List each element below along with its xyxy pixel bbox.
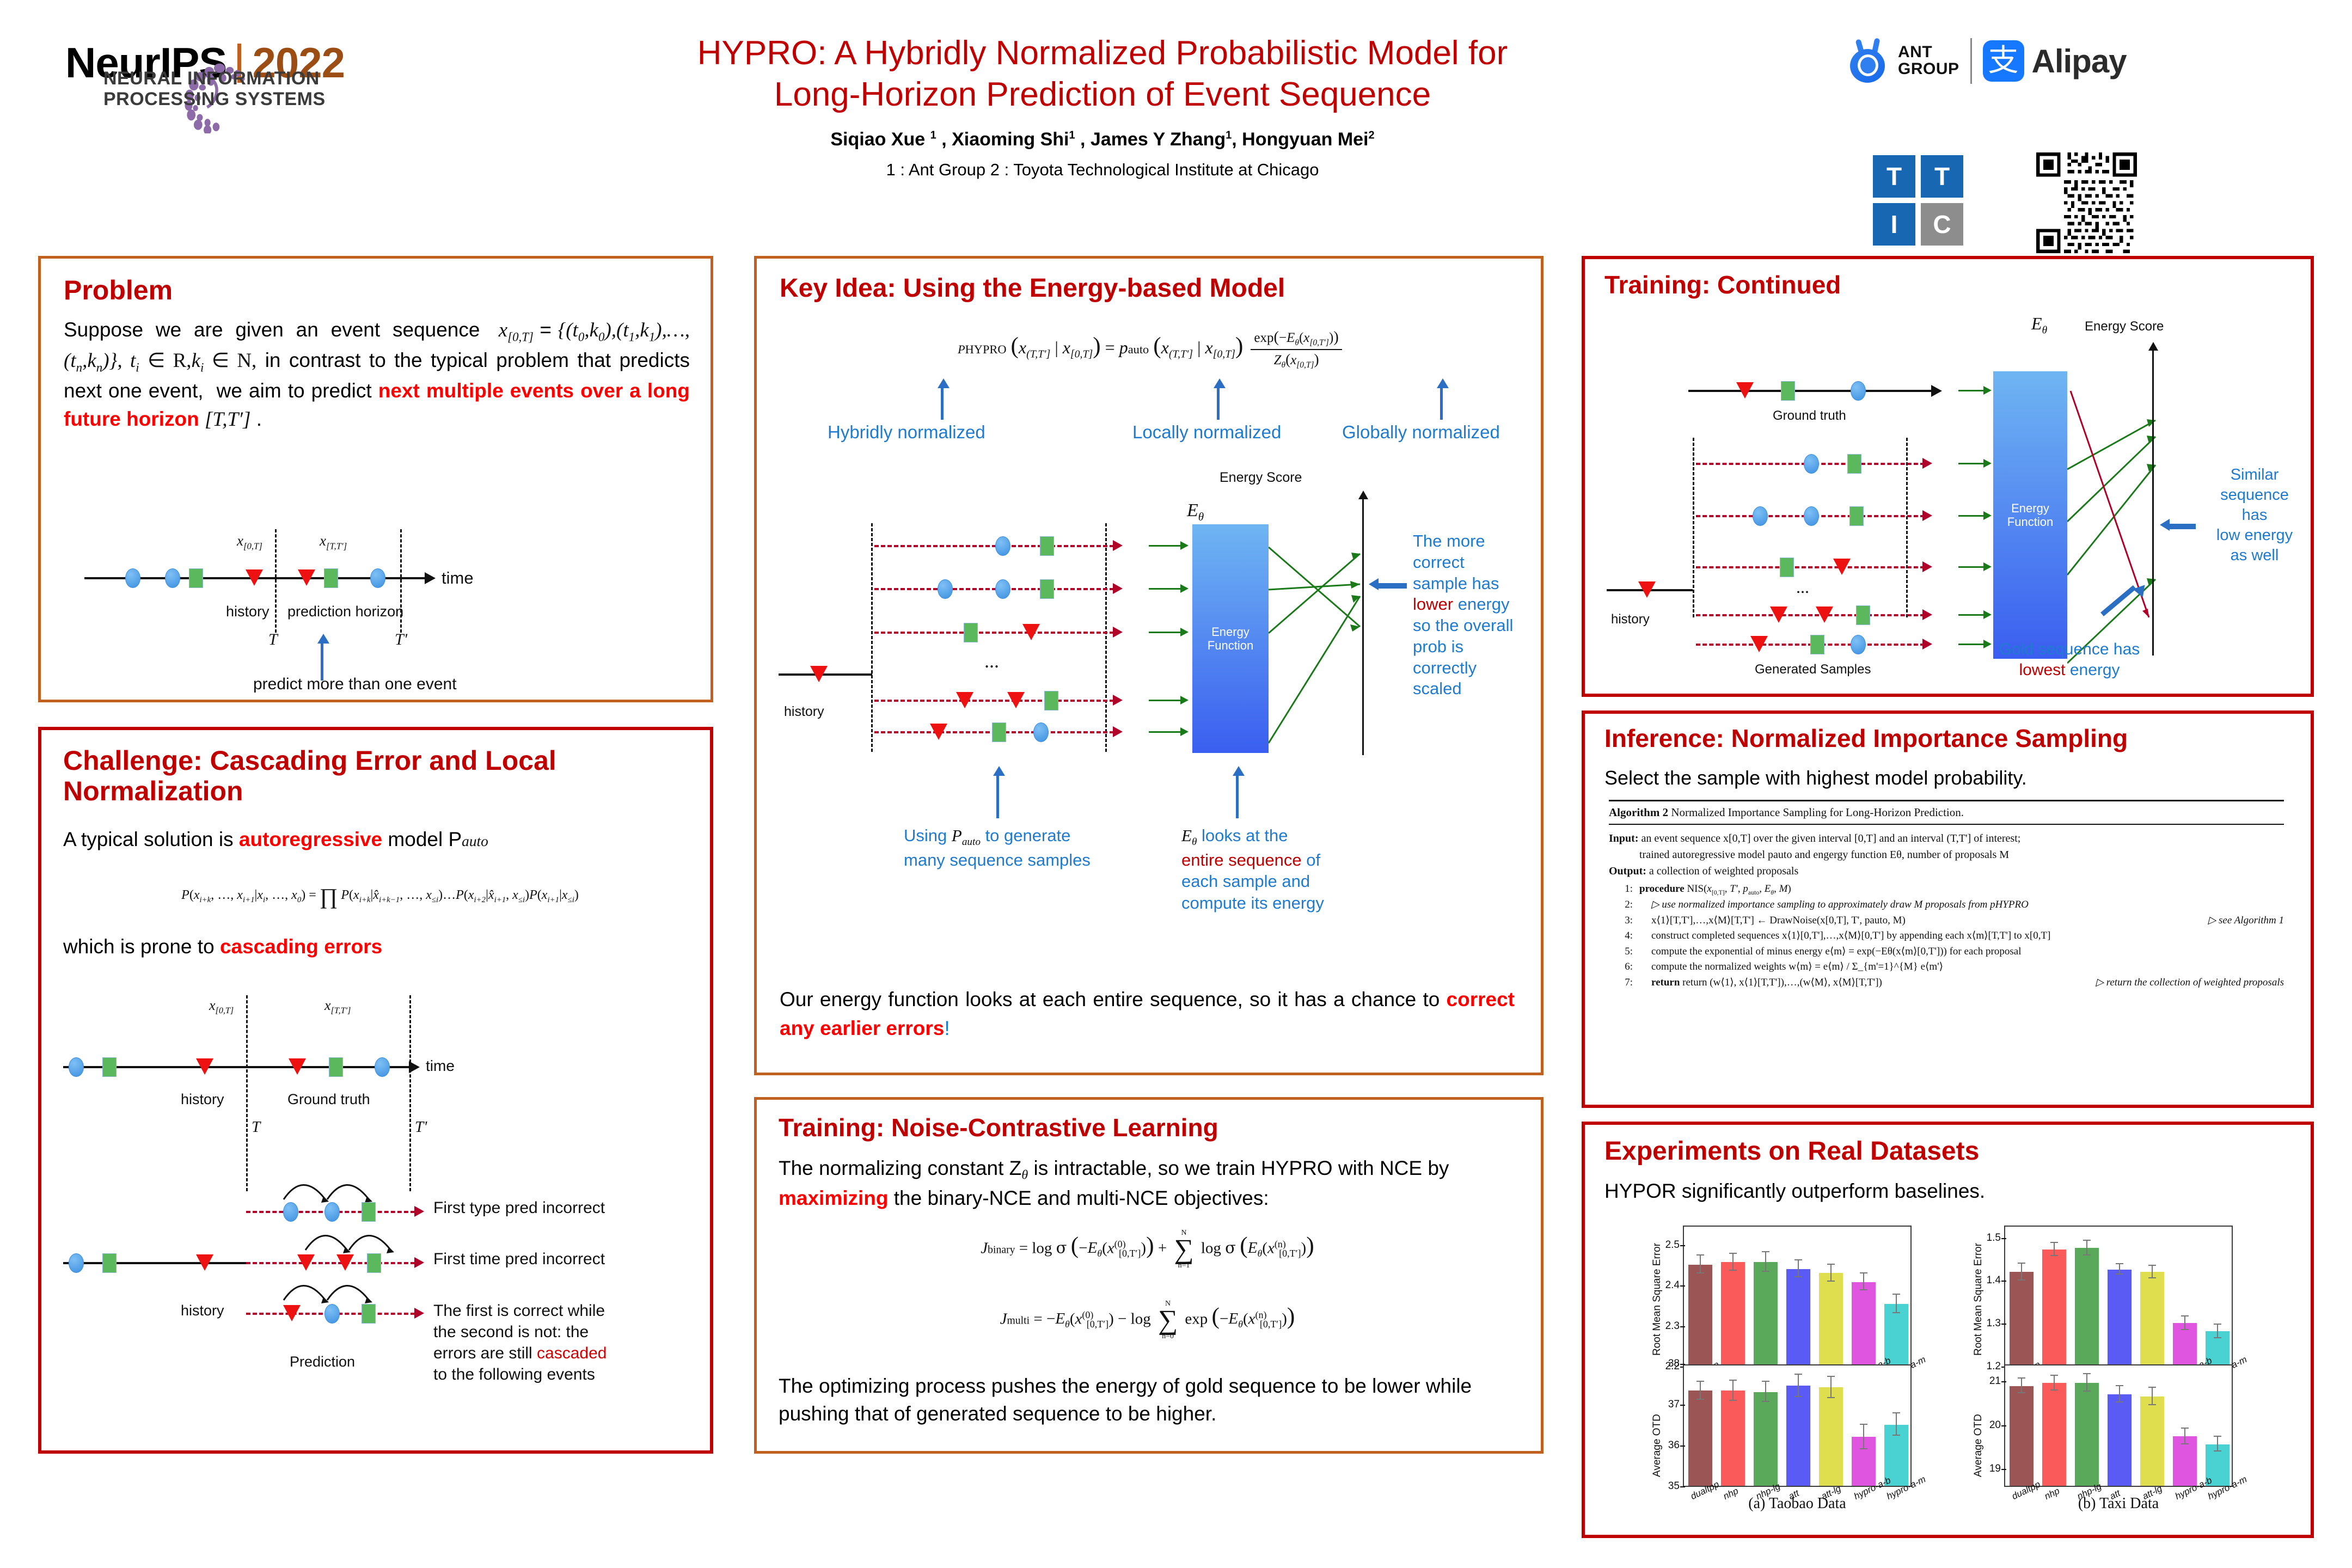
problem-callout: predict more than one event — [253, 675, 457, 694]
challenge-lead-highlight: autoregressive — [239, 828, 382, 850]
algorithm-input: Input: an event sequence x[0,T] over the… — [1609, 830, 2284, 847]
challenge-heading: Challenge: Cascading Error and Local Nor… — [63, 745, 689, 806]
trcont-heading: Training: Continued — [1604, 271, 1841, 299]
algorithm-step-text: ▷ use normalized importance sampling to … — [1639, 897, 2029, 913]
algorithm-input-label: Input: — [1609, 832, 1638, 844]
alipay-glyph: 支 — [1983, 40, 2024, 82]
error-cap — [1696, 1254, 1704, 1255]
bar — [1819, 1387, 1843, 1486]
chart-caption-taobao: (a) Taobao Data — [1688, 1495, 1906, 1512]
algorithm-input-line1: an event sequence x[0,T] over the given … — [1641, 832, 2020, 844]
y-tick — [2001, 1469, 2006, 1470]
challenge-prone: which is prone to cascading errors — [63, 933, 382, 961]
challenge-callout-1: First type pred incorrect — [433, 1199, 605, 1217]
bar — [2042, 1383, 2066, 1486]
bar — [2075, 1383, 2099, 1486]
inference-heading: Inference: Normalized Importance Samplin… — [1604, 725, 2128, 753]
inference-algorithm-box: Algorithm 2 Normalized Importance Sampli… — [1609, 800, 2284, 990]
challenge-callout-3-l3b: cascaded — [537, 1344, 607, 1362]
y-tick — [1680, 1285, 1685, 1287]
trcont-rc-4: as well — [2200, 546, 2309, 566]
ttic-tile-t2: T — [1921, 155, 1963, 198]
y-axis-label: Average OTD — [1973, 1414, 1984, 1477]
challenge-prone-highlight: cascading errors — [220, 935, 382, 958]
keyidea-heading: Key Idea: Using the Energy-based Model — [780, 274, 1285, 303]
error-cap — [1794, 1259, 1802, 1260]
challenge-formula: P(xi+k, …, xi+1|xi, …, x0) = ∏ P(xi+k|x̂… — [70, 884, 690, 909]
error-cap — [1794, 1276, 1802, 1277]
panel-challenge: Challenge: Cascading Error and Local Nor… — [38, 727, 713, 1454]
trcont-diagram: Eθ Energy Score Ground truth — [1596, 307, 2304, 688]
error-cap — [1860, 1272, 1867, 1273]
keyidea-ellipsis: ... — [984, 650, 999, 672]
trcont-score-mapping-arrows — [2067, 367, 2171, 672]
challenge-callout-3-l3: errors are still cascaded — [433, 1343, 689, 1364]
challenge-label-x0T: x[0,T] — [209, 997, 234, 1016]
y-tick — [1680, 1364, 1685, 1365]
error-bar — [2054, 1243, 2055, 1256]
error-bar — [2021, 1264, 2022, 1281]
bar — [2010, 1272, 2033, 1366]
challenge-T-label: T — [252, 1118, 260, 1136]
error-cap — [1729, 1400, 1737, 1401]
error-cap — [2181, 1443, 2189, 1444]
cascade-arc-row2 — [303, 1222, 401, 1254]
error-cap — [2050, 1242, 2058, 1243]
algorithm-step-num: 7: — [1609, 975, 1639, 991]
error-cap — [2083, 1254, 2091, 1255]
challenge-heading-line2: Normalization — [63, 776, 689, 806]
problem-timeline-diagram: time x[0,T] x[T,T′] history prediction h… — [73, 512, 672, 686]
keyidea-conclusion-after: ! — [944, 1017, 950, 1039]
bar — [1786, 1269, 1810, 1366]
keyidea-formula: pHYPRO (x(T,T′] | x[0,T]) = pauto (x(T,T… — [789, 328, 1514, 370]
bar — [1786, 1386, 1810, 1486]
keyidea-conclusion-before: Our energy function looks at each entire… — [780, 988, 1447, 1010]
algorithm-step: 4: construct completed sequences x⟨1⟩[0,… — [1609, 928, 2284, 944]
training-formula-multi: Jmulti = −Eθ(x(0)[0,T′]) − log N∑n=0 exp… — [779, 1300, 1516, 1340]
y-axis-label: Root Mean Square Error — [1973, 1243, 1984, 1356]
error-bar — [1896, 1413, 1897, 1436]
algorithm-step-num: 6: — [1609, 959, 1639, 975]
bar — [1721, 1262, 1745, 1366]
panel-key-idea: Key Idea: Using the Energy-based Model p… — [754, 256, 1543, 1075]
algorithm-io: Input: an event sequence x[0,T] over the… — [1609, 830, 2284, 879]
algorithm-step: 7: return return (w⟨1⟩, x⟨1⟩[T,T']),…,(w… — [1609, 975, 2284, 991]
y-tick — [1680, 1326, 1685, 1327]
error-cap — [2181, 1428, 2189, 1429]
trcont-energy-score-label: Energy Score — [2085, 319, 2164, 334]
error-cap — [2181, 1315, 2189, 1316]
error-bar — [2184, 1316, 2185, 1330]
error-bar — [1700, 1255, 1701, 1273]
cascade-arc-row3 — [281, 1272, 379, 1304]
error-cap — [1827, 1397, 1835, 1398]
keyidea-history-label: history — [784, 704, 824, 720]
error-bar — [2217, 1437, 2218, 1451]
y-tick — [2001, 1324, 2006, 1325]
trcont-rc-1: sequence — [2200, 485, 2309, 505]
keyidea-rc-6: correctly — [1413, 658, 1538, 679]
bar — [2140, 1272, 2164, 1366]
keyidea-right-callout: The more correct sample has lower energy… — [1413, 531, 1538, 700]
trcont-bc-l1: Gold sequence has — [1971, 639, 2167, 660]
error-bar — [2086, 1374, 2087, 1392]
error-cap — [1729, 1253, 1737, 1254]
error-cap — [2116, 1263, 2123, 1264]
bar — [1754, 1392, 1778, 1486]
keyidea-callout-hybrid: Hybridly normalized — [828, 422, 985, 443]
algorithm-output-text: a collection of weighted proposals — [1649, 865, 1798, 877]
keyidea-brc-l4: compute its energy — [1181, 892, 1324, 914]
error-cap — [2018, 1377, 2025, 1379]
error-cap — [1762, 1271, 1769, 1272]
y-tick — [1680, 1445, 1685, 1447]
error-cap — [2050, 1255, 2058, 1256]
algorithm-step-text: compute the exponential of minus energy … — [1639, 944, 2022, 960]
poster-header: NeurIPS 2022 NEURAL INFORMA — [0, 0, 2352, 256]
error-bar — [1798, 1375, 1799, 1397]
algorithm-step-num: 2: — [1609, 897, 1639, 913]
challenge-callout-3-l1: The first is correct while — [433, 1300, 689, 1321]
bar — [2075, 1248, 2099, 1366]
y-tick — [2001, 1281, 2006, 1282]
algorithm-step-text: compute the normalized weights w⟨m⟩ = e⟨… — [1639, 959, 1943, 975]
cascade-arc-row1 — [281, 1171, 379, 1204]
keyidea-blc-l2: many sequence samples — [904, 849, 1091, 871]
keyidea-energy-score-label: Energy Score — [1220, 470, 1302, 486]
trcont-bc-l2-red: lowest — [2019, 661, 2065, 679]
error-cap — [1892, 1412, 1900, 1413]
error-bar — [2119, 1386, 2120, 1403]
algorithm-title: Algorithm 2 Normalized Importance Sampli… — [1609, 806, 2284, 824]
challenge-lead-after: model P — [382, 828, 462, 850]
challenge-callout-3-l2: the second is not: the — [433, 1321, 689, 1343]
ttic-tile-i: I — [1873, 203, 1915, 246]
challenge-callout-3: The first is correct while the second is… — [433, 1300, 689, 1385]
error-cap — [2214, 1337, 2221, 1338]
problem-paragraph: Suppose we are given an event sequence x… — [64, 316, 690, 434]
problem-label-xTT: x[T,T′] — [320, 532, 347, 552]
y-tick — [1680, 1486, 1685, 1487]
trcont-efn-line2: Function — [2007, 515, 2053, 529]
algorithm-step: 3: x⟨1⟩[T,T'],…,x⟨M⟩[T,T'] ← DrawNoise(x… — [1609, 913, 2284, 929]
error-cap — [2148, 1387, 2156, 1388]
challenge-groundtruth-label: Ground truth — [287, 1091, 370, 1108]
error-cap — [2214, 1436, 2221, 1437]
error-cap — [2083, 1391, 2091, 1392]
error-cap — [1827, 1376, 1835, 1377]
error-cap — [2083, 1240, 2091, 1241]
error-cap — [1827, 1281, 1835, 1282]
challenge-cascade-diagram: time x[0,T] x[T,T′] history Ground truth… — [52, 983, 706, 1435]
qr-code-icon — [2036, 152, 2137, 253]
challenge-heading-line1: Challenge: Cascading Error and Local — [63, 745, 689, 776]
y-tick — [2001, 1425, 2006, 1426]
keyidea-rc-5: prob is — [1413, 636, 1538, 658]
training-intro-highlight: maximizing — [779, 1187, 889, 1209]
alipay-logo: 支 Alipay — [1983, 40, 2127, 82]
training-formula-binary: Jbinary = log σ (−Eθ(x(0)[0,T′])) + N∑n=… — [779, 1229, 1516, 1270]
error-cap — [2148, 1265, 2156, 1266]
challenge-callout-3-l3a: errors are still — [433, 1344, 537, 1362]
error-bar — [1765, 1252, 1766, 1272]
keyidea-blc-l1: Using Pauto to generate — [904, 825, 1091, 849]
trcont-Etheta-label: Eθ — [2031, 314, 2047, 336]
algorithm-step-text: procedure NIS(x[0,T], T′, pauto, Eθ, M) — [1639, 881, 1791, 897]
error-cap — [2116, 1385, 2123, 1386]
error-bar — [2152, 1266, 2153, 1278]
keyidea-Etheta-label: Eθ — [1187, 500, 1204, 524]
training-heading: Training: Noise-Contrastive Learning — [779, 1114, 1218, 1142]
bar — [2140, 1396, 2164, 1486]
error-bar — [1896, 1295, 1897, 1313]
algorithm-step: 2: ▷ use normalized importance sampling … — [1609, 897, 2284, 913]
plot-area — [1683, 1226, 1912, 1367]
algorithm-step: 1: procedure NIS(x[0,T], T′, pauto, Eθ, … — [1609, 881, 2284, 897]
sponsor-logos: ANT GROUP 支 Alipay — [1846, 38, 2127, 84]
challenge-history-label: history — [181, 1091, 224, 1108]
error-cap — [2050, 1389, 2058, 1391]
keyidea-energy-function-box: Energy Function — [1192, 524, 1269, 753]
trcont-history-label: history — [1611, 612, 1650, 627]
trcont-ellipsis: ... — [1796, 577, 1809, 597]
challenge-label-xTT: x[T,T′] — [324, 997, 351, 1016]
error-bar — [2021, 1379, 2022, 1393]
panel-problem: Problem Suppose we are given an event se… — [38, 256, 713, 702]
error-cap — [2018, 1263, 2025, 1264]
ant-icon — [1846, 39, 1889, 83]
error-cap — [1696, 1272, 1704, 1273]
algorithm-output: Output: a collection of weighted proposa… — [1609, 863, 2284, 879]
error-cap — [2083, 1373, 2091, 1374]
algorithm-step: 5: compute the exponential of minus ener… — [1609, 944, 2284, 960]
error-cap — [1729, 1270, 1737, 1271]
ttic-logo: T T I C — [1873, 155, 1963, 246]
keyidea-brc-l2-rest: of — [1302, 850, 1320, 869]
logo-separator — [1970, 38, 1972, 84]
error-cap — [1892, 1294, 1900, 1295]
error-cap — [2018, 1392, 2025, 1393]
ant-group-logo: ANT GROUP — [1846, 39, 1959, 83]
problem-heading: Problem — [64, 275, 173, 305]
algorithm-step-num: 4: — [1609, 928, 1639, 944]
keyidea-rc-3-red: lower — [1413, 595, 1453, 614]
error-cap — [1794, 1396, 1802, 1397]
problem-label-x0T: x[0,T] — [237, 532, 262, 552]
error-cap — [1860, 1424, 1867, 1425]
y-tick-label: 37 — [1658, 1399, 1680, 1411]
ttic-tile-t1: T — [1873, 155, 1915, 198]
training-intro-p2: is intractable, so we train HYPRO with N… — [1028, 1157, 1449, 1179]
trcont-right-callout: Similar sequence has low energy as well — [2200, 465, 2309, 566]
error-bar — [2054, 1376, 2055, 1391]
problem-T-label: T — [268, 630, 278, 649]
keyidea-rc-1: correct — [1413, 552, 1538, 573]
nips-logo-line1: NEURAL INFORMATION — [103, 68, 326, 89]
keyidea-efn-line2: Function — [1208, 639, 1253, 652]
y-tick-label: 1.2 — [1979, 1361, 2001, 1373]
y-tick — [1680, 1405, 1685, 1406]
error-cap — [1696, 1399, 1704, 1400]
algorithm-step-text: return return (w⟨1⟩, x⟨1⟩[T,T']),…,(w⟨M⟩… — [1639, 975, 2096, 991]
training-intro: The normalizing constant Zθ is intractab… — [779, 1154, 1516, 1212]
error-cap — [2181, 1329, 2189, 1330]
keyidea-rc-4: so the overall — [1413, 615, 1538, 636]
algorithm-output-label: Output: — [1609, 865, 1646, 877]
error-cap — [2148, 1277, 2156, 1278]
error-cap — [2018, 1279, 2025, 1281]
algorithm-step: 6: compute the normalized weights w⟨m⟩ =… — [1609, 959, 2284, 975]
trcont-rc-2: has — [2200, 505, 2309, 525]
keyidea-bottom-left-callout: Using Pauto to generate many sequence sa… — [904, 825, 1091, 871]
panel-inference: Inference: Normalized Importance Samplin… — [1582, 710, 2314, 1108]
training-intro-p3: the binary-NCE and multi-NCE objectives: — [889, 1187, 1269, 1209]
nips-logo-text: NEURAL INFORMATION PROCESSING SYSTEMS — [103, 68, 326, 109]
error-cap — [1762, 1251, 1769, 1252]
problem-horizon-label: prediction horizon — [287, 603, 403, 620]
keyidea-callout-global: Globally normalized — [1342, 422, 1500, 443]
challenge-history-label-2: history — [181, 1302, 224, 1319]
keyidea-efn-line1: Energy — [1208, 625, 1253, 639]
error-cap — [2214, 1324, 2221, 1325]
ant-line-1: ANT — [1898, 44, 1959, 61]
algorithm-title-rest: Normalized Importance Sampling for Long-… — [1668, 806, 1964, 819]
keyidea-rc-0: The more — [1413, 531, 1538, 552]
bar — [1688, 1391, 1712, 1486]
problem-Tprime-label: T' — [395, 630, 407, 649]
y-tick — [2001, 1381, 2006, 1382]
algorithm-steps: 1: procedure NIS(x[0,T], T′, pauto, Eθ, … — [1609, 881, 2284, 990]
error-cap — [2148, 1404, 2156, 1405]
keyidea-rc-3: lower energy — [1413, 594, 1538, 615]
error-bar — [1765, 1382, 1766, 1402]
keyidea-conclusion: Our energy function looks at each entire… — [780, 985, 1515, 1043]
y-tick-label: 1.5 — [1979, 1232, 2001, 1244]
panel-experiments: Experiments on Real Datasets HYPOR signi… — [1582, 1122, 2314, 1538]
experiments-subtitle: HYPOR significantly outperform baselines… — [1604, 1177, 1985, 1206]
author-list: Siqiao Xue 1 , Xiaoming Shi1 , James Y Z… — [572, 129, 1633, 150]
algorithm-step-num: 3: — [1609, 913, 1639, 929]
error-cap — [2214, 1450, 2221, 1451]
challenge-axis-label: time — [426, 1057, 455, 1075]
error-bar — [1863, 1273, 1864, 1290]
error-bar — [1830, 1265, 1832, 1282]
error-bar — [1798, 1260, 1799, 1277]
keyidea-score-mapping-arrows — [1269, 520, 1377, 759]
bar — [2108, 1394, 2131, 1486]
y-tick — [1680, 1245, 1685, 1246]
error-bar — [1732, 1381, 1734, 1401]
plot-area — [2004, 1364, 2233, 1487]
bar — [2042, 1249, 2066, 1366]
bar — [1688, 1265, 1712, 1366]
y-tick-label: 38 — [1658, 1358, 1680, 1370]
error-bar — [2152, 1388, 2153, 1405]
challenge-prediction-label: Prediction — [290, 1353, 355, 1370]
error-cap — [1860, 1289, 1867, 1290]
error-bar — [1732, 1254, 1734, 1271]
plot-area — [2004, 1226, 2233, 1367]
keyidea-rc-2: sample has — [1413, 573, 1538, 595]
bar — [1754, 1262, 1778, 1366]
plot-area — [1683, 1364, 1912, 1487]
training-intro-sub: θ — [1021, 1167, 1028, 1182]
training-intro-p1: The normalizing constant Z — [779, 1157, 1021, 1179]
ttic-tile-c: C — [1921, 203, 1963, 246]
challenge-Tprime-label: T' — [415, 1118, 427, 1136]
problem-axis-label: time — [442, 568, 474, 588]
error-cap — [1794, 1374, 1802, 1375]
error-bar — [1700, 1382, 1701, 1400]
title-block: HYPRO: A Hybridly Normalized Probabilist… — [572, 33, 1633, 180]
panel-training-continued: Training: Continued Eθ Energy Score Grou… — [1582, 256, 2314, 697]
error-cap — [2050, 1375, 2058, 1376]
algorithm-step-text: x⟨1⟩[T,T'],…,x⟨M⟩[T,T'] ← DrawNoise(x[0,… — [1639, 913, 2208, 929]
y-axis-label: Average OTD — [1651, 1414, 1663, 1477]
trcont-bc-l2-rest: energy — [2065, 661, 2120, 679]
chart-taobao-otd: 35363738Average OTDdualtppnhpnhp-lgattat… — [1683, 1364, 1912, 1539]
chart-taxi-otd: 192021Average OTDdualtppnhpnhp-lgattatt-… — [2004, 1364, 2233, 1539]
algorithm-step-num: 5: — [1609, 944, 1639, 960]
panel-training-nce: Training: Noise-Contrastive Learning The… — [754, 1097, 1543, 1454]
bar — [1721, 1391, 1745, 1486]
error-bar — [2184, 1429, 2185, 1444]
challenge-lead: A typical solution is autoregressive mod… — [63, 825, 689, 854]
trcont-groundtruth-label: Ground truth — [1773, 408, 1846, 424]
ant-group-text: ANT GROUP — [1898, 44, 1959, 77]
error-cap — [1860, 1448, 1867, 1449]
error-cap — [1762, 1381, 1769, 1382]
y-tick-label: 35 — [1658, 1480, 1680, 1492]
poster-title-line1: HYPRO: A Hybridly Normalized Probabilist… — [572, 33, 1633, 74]
chart-caption-taxi: (b) Taxi Data — [2010, 1495, 2227, 1512]
trcont-generated-samples-label: Generated Samples — [1755, 662, 1871, 677]
problem-history-label: history — [226, 603, 269, 620]
algorithm-input-line2: trained autoregressive model pauto and e… — [1609, 847, 2284, 863]
keyidea-rc-7: scaled — [1413, 678, 1538, 700]
keyidea-callout-local: Locally normalized — [1132, 422, 1281, 443]
algorithm-step-comment: ▷ return the collection of weighted prop… — [2096, 975, 2284, 991]
trcont-bc-l2: lowest energy — [1971, 660, 2167, 681]
challenge-lead-before: A typical solution is — [63, 828, 239, 850]
training-closing: The optimizing process pushes the energy… — [779, 1372, 1516, 1428]
problem-highlight: next multiple events over a long future … — [64, 379, 690, 431]
ant-line-2: GROUP — [1898, 61, 1959, 78]
trcont-efn-line1: Energy — [2007, 501, 2053, 515]
bar — [1852, 1282, 1876, 1367]
challenge-callout-2: First time pred incorrect — [433, 1250, 605, 1269]
alipay-text: Alipay — [2032, 42, 2127, 80]
algorithm-step-comment: ▷ see Algorithm 1 — [2208, 913, 2284, 929]
trcont-rc-3: low energy — [2200, 525, 2309, 546]
error-cap — [1827, 1264, 1835, 1265]
trcont-energy-function-box: Energy Function — [1993, 371, 2067, 659]
keyidea-brc-l2: entire sequence of — [1181, 849, 1324, 871]
poster-title-line2: Long-Horizon Prediction of Event Sequenc… — [572, 74, 1633, 115]
keyidea-brc-l2-red: entire sequence — [1181, 850, 1302, 869]
error-cap — [1762, 1401, 1769, 1402]
error-bar — [1863, 1425, 1864, 1449]
nips-logo-line2: PROCESSING SYSTEMS — [103, 89, 326, 109]
bar — [2010, 1386, 2033, 1486]
keyidea-brc-l3: each sample and — [1181, 871, 1324, 892]
keyidea-energy-diagram: Energy Score Eθ ... history — [768, 476, 1535, 928]
algorithm-step-num: 1: — [1609, 881, 1639, 897]
keyidea-bottom-right-callout: Eθ looks at the entire sequence of each … — [1181, 825, 1324, 914]
affiliation-list: 1 : Ant Group 2 : Toyota Technological I… — [572, 160, 1633, 180]
y-tick — [2001, 1238, 2006, 1239]
